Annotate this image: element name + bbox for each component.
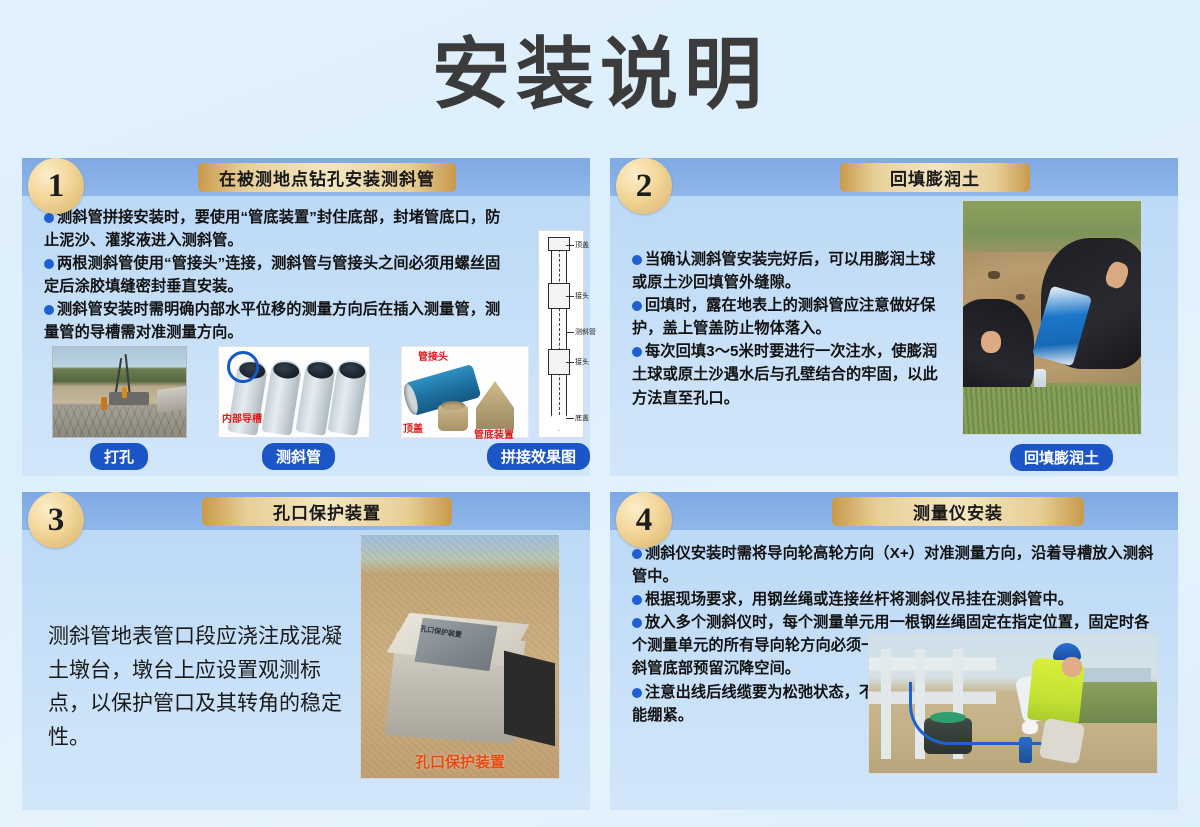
worker-figure-2 [122, 387, 127, 398]
worker-face [1062, 657, 1082, 677]
step-header-4: 测量仪安装 [832, 497, 1084, 526]
schematic-top-cap [548, 237, 570, 251]
photo-caption-wellhead: 孔口保护装置 [415, 751, 505, 772]
caption-pill-drilling: 打孔 [90, 443, 148, 470]
inclinometer-probe [1019, 737, 1032, 763]
panel-4-bullet-1: 测斜仪安装时需将导向轮高轮方向（X+）对准测量方向，沿着导槽放入测斜管中。 [632, 542, 1160, 588]
schematic-centerline [559, 239, 560, 415]
step-number-badge-1: 1 [28, 158, 84, 214]
schematic-bottom-tip [551, 415, 567, 431]
schematic-label-joint-1: 接头 [575, 291, 589, 301]
step-number-badge-3: 3 [28, 492, 84, 548]
top-cap-object [438, 405, 468, 431]
schematic-label-top-cap: 顶盖 [575, 240, 589, 250]
panel-1-bullet-1: 测斜管拼接安装时，要使用“管底装置”封住底部，封堵管底口，防止泥沙、灌浆液进入测… [44, 206, 514, 252]
step-number-badge-2: 2 [616, 158, 672, 214]
label-inner-groove: 内部导槽 [222, 410, 262, 425]
panel-1-text: 测斜管拼接安装时，要使用“管底装置”封住底部，封堵管底口，防止泥沙、灌浆液进入测… [44, 206, 514, 345]
schematic-label-bottom-cap: 底盖 [575, 413, 589, 423]
panel-3-paragraph: 测斜管地表管口段应浇注成混凝土墩台，墩台上应设置观测标点，以保护管口及其转角的稳… [48, 620, 348, 754]
caption-pill-casing: 测斜管 [262, 443, 335, 470]
label-pipe-coupling: 管接头 [418, 348, 448, 363]
panel-2-bullet-2: 回填时，露在地表上的测斜管应注意做好保护，盖上管盖防止物体落入。 [632, 294, 950, 340]
photo-bentonite-backfill [962, 200, 1142, 435]
panel-4-bullet-4: 注意出线后线缆要为松弛状态，不能绷紧。 [632, 681, 882, 727]
step-header-2: 回填膨润土 [840, 163, 1030, 192]
label-bottom-device: 管底装置 [474, 426, 514, 441]
panel-2-bullet-3: 每次回填3～5米时要进行一次注水，使膨润土球或原土沙遇水后与孔壁结合的牢固，以此… [632, 340, 950, 409]
step-header-1: 在被测地点钻孔安装测斜管 [198, 163, 456, 192]
drill-truck [109, 392, 149, 405]
step-panel-3: 3 孔口保护装置 测斜管地表管口段应浇注成混凝土墩台，墩台上应设置观测标点，以保… [22, 492, 590, 810]
step-number-badge-4: 4 [616, 492, 672, 548]
page-title: 安装说明 [432, 36, 768, 114]
label-top-cap: 顶盖 [403, 420, 423, 435]
panel-2-text: 当确认测斜管安装完好后，可以用膨润土球或原土沙回填管外缝隙。 回填时，露在地表上… [632, 248, 950, 410]
grass-strip [963, 387, 1141, 434]
photo-wellhead-protection: 孔口保护装置 孔口保护装置 [360, 534, 560, 779]
work-glove [1022, 721, 1038, 734]
step-panel-1: 1 在被测地点钻孔安装测斜管 测斜管拼接安装时，要使用“管底装置”封住底部，封堵… [22, 158, 590, 476]
caption-pill-assembly: 拼接效果图 [487, 443, 590, 470]
schematic-label-joint-2: 接头 [575, 357, 589, 367]
guardrail-post [881, 649, 891, 759]
panel-2-bullet-1: 当确认测斜管安装完好后，可以用膨润土球或原土沙回填管外缝隙。 [632, 248, 950, 294]
worker-figure [101, 397, 107, 410]
step-panel-4: 4 测量仪安装 测斜仪安装时需将导向轮高轮方向（X+）对准测量方向，沿着导槽放入… [610, 492, 1178, 810]
steps-grid: 1 在被测地点钻孔安装测斜管 测斜管拼接安装时，要使用“管底装置”封住底部，封堵… [22, 158, 1178, 810]
photo-drilling [52, 346, 187, 438]
bottom-device-cone [476, 381, 514, 429]
panel-1-bullet-3: 测斜管安装时需明确内部水平位移的测量方向后在插入测量管，测量管的导槽需对准测量方… [44, 298, 514, 344]
caption-pill-backfill: 回填膨润土 [1010, 444, 1113, 471]
barrier-wall [157, 386, 186, 414]
title-bar: 安装说明 [0, 0, 1200, 150]
worker-leg [1039, 717, 1085, 763]
shadow-area [504, 650, 555, 745]
step-header-3: 孔口保护装置 [202, 497, 452, 526]
assembly-schematic: 顶盖 接头 测斜管 接头 底盖 [538, 230, 584, 438]
groove-highlight-circle [227, 351, 259, 383]
panel-4-bullet-2: 根据现场要求，用钢丝绳或连接丝杆将测斜仪吊挂在测斜管中。 [632, 588, 1160, 611]
step-panel-2: 2 回填膨润土 当确认测斜管安装完好后，可以用膨润土球或原土沙回填管外缝隙。 回… [610, 158, 1178, 476]
photo-instrument-installation [868, 634, 1158, 774]
panel-1-bullet-2: 两根测斜管使用“管接头”连接，测斜管与管接头之间必须用螺丝固定后涂胶填缝密封垂直… [44, 252, 514, 298]
schematic-label-casing: 测斜管 [575, 327, 596, 337]
soil-clod [988, 271, 1000, 279]
hand-2 [981, 331, 1001, 353]
